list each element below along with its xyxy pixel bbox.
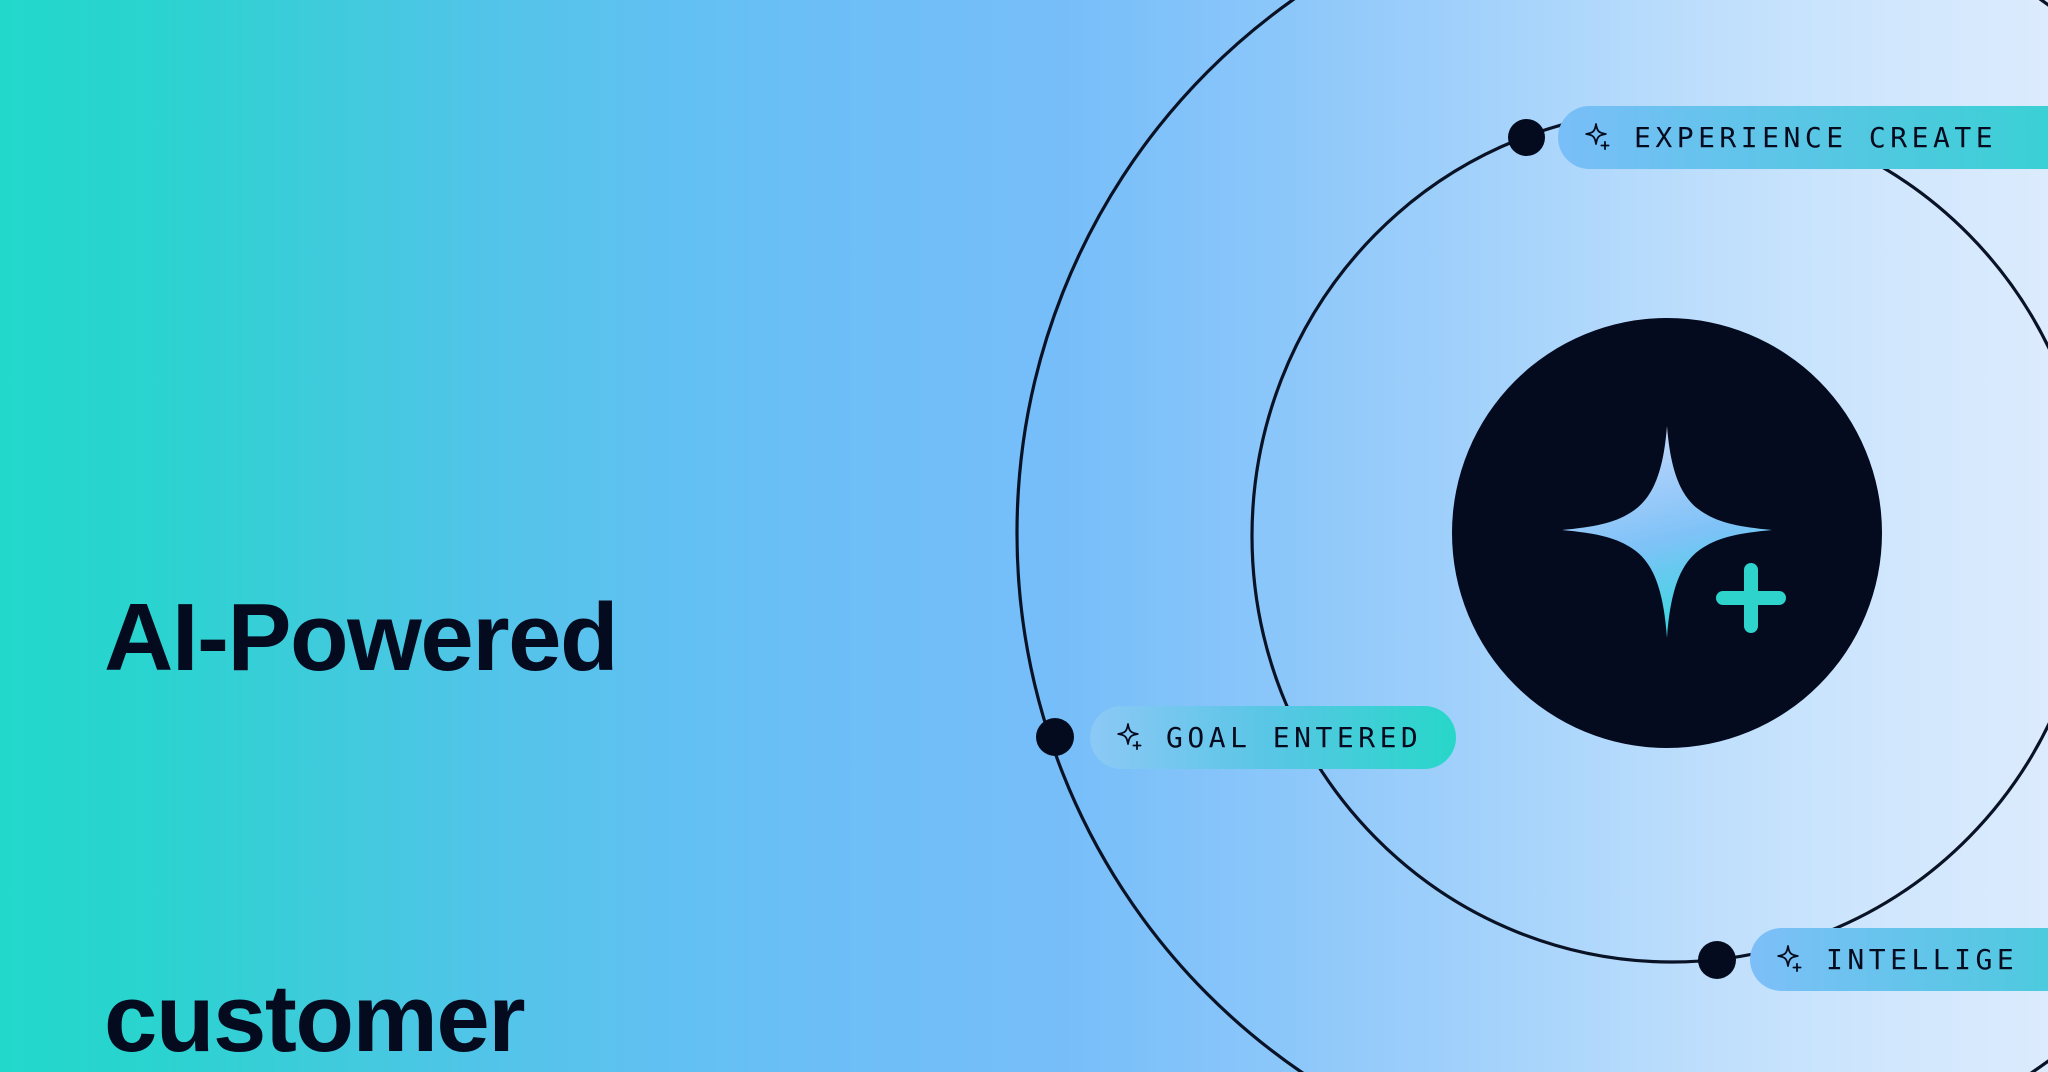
status-pill-goal-entered[interactable]: GOAL ENTERED	[1090, 706, 1456, 769]
page-title: AI-Powered customer experiences	[104, 322, 964, 1072]
sparkle-plus-icon	[1776, 944, 1806, 976]
plus-icon	[1716, 563, 1786, 633]
ai-core-icon-group	[1452, 318, 1882, 748]
status-pill-label: EXPERIENCE CREATE	[1634, 121, 1997, 154]
status-pill-intelligent[interactable]: INTELLIGE	[1750, 928, 2048, 991]
status-pill-label: GOAL ENTERED	[1166, 721, 1422, 754]
hero-banner: AI-Powered customer experiences	[0, 0, 2048, 1072]
orbit-node-dot-goal	[1036, 718, 1074, 756]
ai-core-sphere	[1452, 318, 1882, 748]
sparkle-icon	[1562, 426, 1772, 638]
status-pill-experience-created[interactable]: EXPERIENCE CREATE	[1558, 106, 2048, 169]
status-pill-label: INTELLIGE	[1826, 943, 2018, 976]
sparkle-plus-icon	[1116, 722, 1146, 754]
headline-line-1: AI-Powered	[104, 575, 964, 702]
headline-line-2: customer	[104, 956, 964, 1072]
orbit-node-dot-intelligent	[1698, 941, 1736, 979]
sparkle-plus-icon	[1584, 122, 1614, 154]
orbit-node-dot-experience	[1508, 119, 1545, 156]
